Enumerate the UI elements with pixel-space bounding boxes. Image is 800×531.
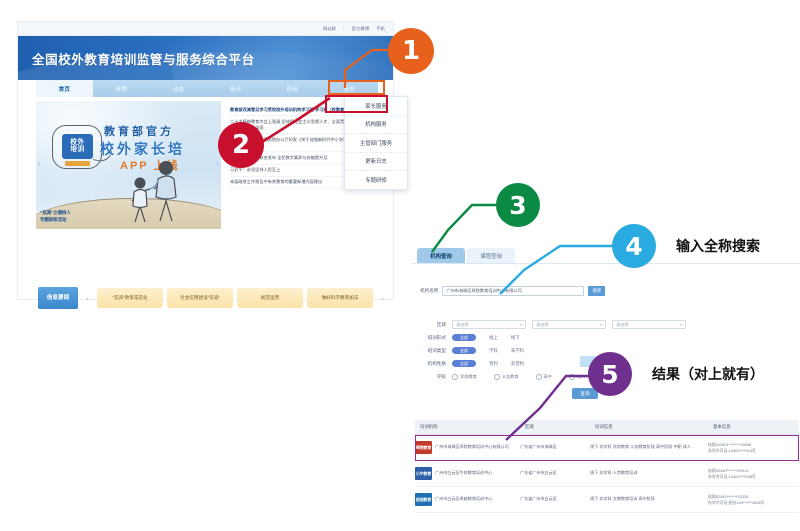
screenshot-root: 网站群 | 官方微博 手机 全国校外教育培训监管与服务综合平台 首页 政策 动态… [0,0,800,531]
annotation-badge-2: 2 [218,122,264,168]
annotation-badge-5: 5 [588,352,632,396]
annotation-text-5: 结果（对上就有） [652,364,764,384]
annotation-badge-4: 4 [612,224,656,268]
highlight-box-parent-service [325,95,388,113]
annotation-leader-lines [0,0,800,531]
highlight-box-service-tab [328,80,385,95]
annotation-text-4: 输入全称搜索 [676,236,760,256]
annotation-badge-3: 3 [496,183,540,227]
annotation-badge-1: 1 [388,28,434,74]
